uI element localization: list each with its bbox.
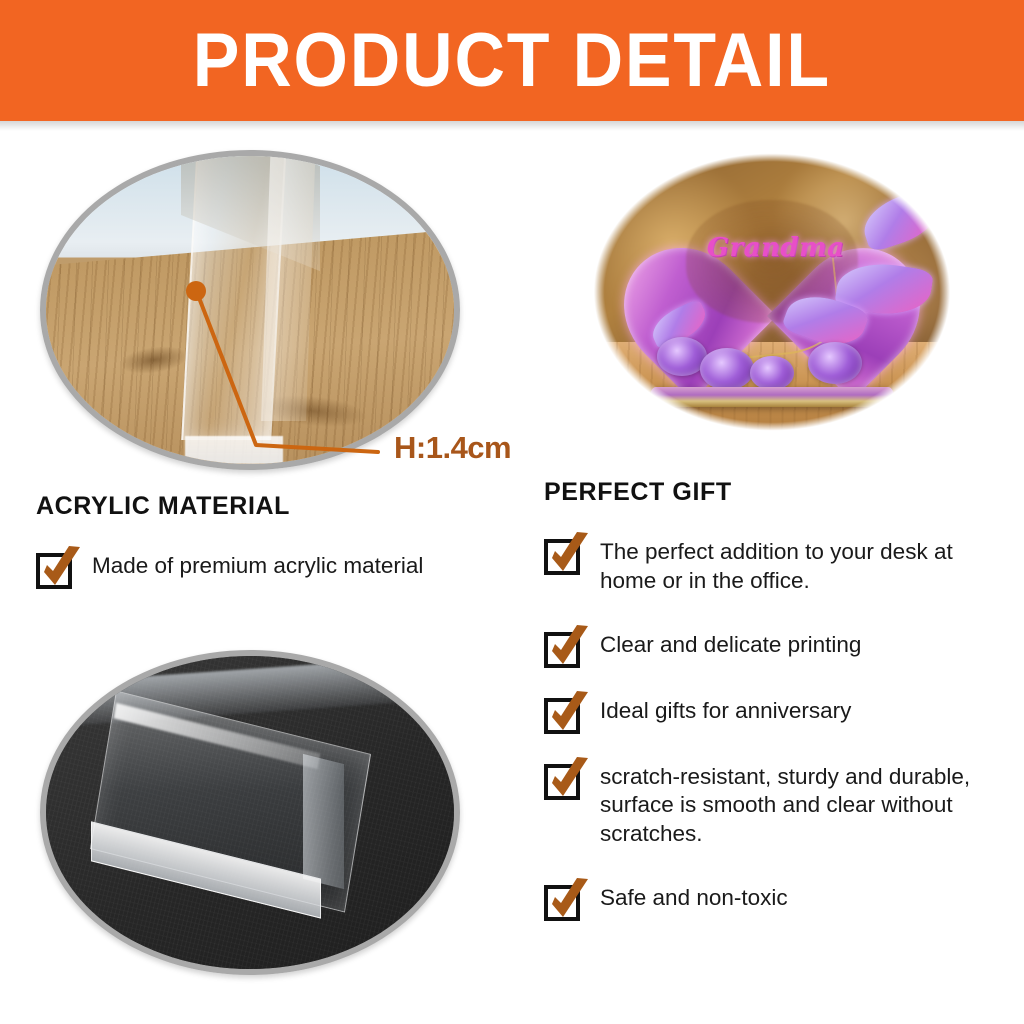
feature-text: Safe and non-toxic — [600, 875, 788, 913]
checkbox-checked-icon — [544, 877, 582, 915]
checkmark-icon — [544, 690, 598, 740]
engraved-name-text: Grandma — [700, 233, 851, 263]
checkbox-checked-icon — [544, 531, 582, 569]
feature-text: The perfect addition to your desk at hom… — [600, 529, 992, 596]
checkmark-icon — [36, 545, 90, 595]
acrylic-edge-photo — [40, 150, 460, 470]
checkbox-checked-icon — [544, 756, 582, 794]
acrylic-block-side-face — [303, 754, 344, 889]
rose-icon — [700, 348, 754, 390]
acrylic-edge-scene — [46, 156, 454, 464]
checkmark-icon — [544, 877, 598, 927]
rose-icon — [750, 356, 793, 390]
section-heading-acrylic-material: ACRYLIC MATERIAL — [36, 492, 536, 521]
feature-item: Safe and non-toxic — [544, 875, 1004, 915]
feature-item: scratch-resistant, sturdy and durable, s… — [544, 754, 1004, 849]
heart-ornament-photo: Grandma — [592, 152, 952, 432]
checkbox-checked-icon — [544, 690, 582, 728]
header-shadow — [0, 121, 1024, 131]
heart-ornament-scene: Grandma — [592, 152, 952, 432]
ornament-base — [650, 387, 895, 407]
feature-item: Clear and delicate printing — [544, 622, 1004, 662]
checkbox-checked-icon — [544, 624, 582, 662]
feature-text: Made of premium acrylic material — [92, 543, 423, 581]
checkmark-icon — [544, 756, 598, 806]
feature-item: The perfect addition to your desk at hom… — [544, 529, 1004, 596]
section-acrylic-material: ACRYLIC MATERIAL Made of premium acrylic… — [36, 492, 536, 583]
checkmark-icon — [544, 531, 598, 581]
page-title: PRODUCT DETAIL — [193, 23, 831, 99]
acrylic-block-photo — [40, 650, 460, 975]
feature-item: Made of premium acrylic material — [36, 543, 536, 583]
feature-text: scratch-resistant, sturdy and durable, s… — [600, 754, 992, 849]
height-measurement-label: H:1.4cm — [394, 430, 511, 466]
feature-item: Ideal gifts for anniversary — [544, 688, 1004, 728]
acrylic-slab-base — [185, 436, 283, 464]
acrylic-block-scene — [46, 656, 454, 969]
checkbox-checked-icon — [36, 545, 74, 583]
header-banner: PRODUCT DETAIL — [0, 0, 1024, 121]
feature-text: Clear and delicate printing — [600, 622, 861, 660]
feature-text: Ideal gifts for anniversary — [600, 688, 851, 726]
section-heading-perfect-gift: PERFECT GIFT — [544, 478, 1004, 507]
checkmark-icon — [544, 624, 598, 674]
callout-dot-icon — [186, 281, 206, 301]
section-perfect-gift: PERFECT GIFT The perfect addition to you… — [544, 478, 1004, 941]
